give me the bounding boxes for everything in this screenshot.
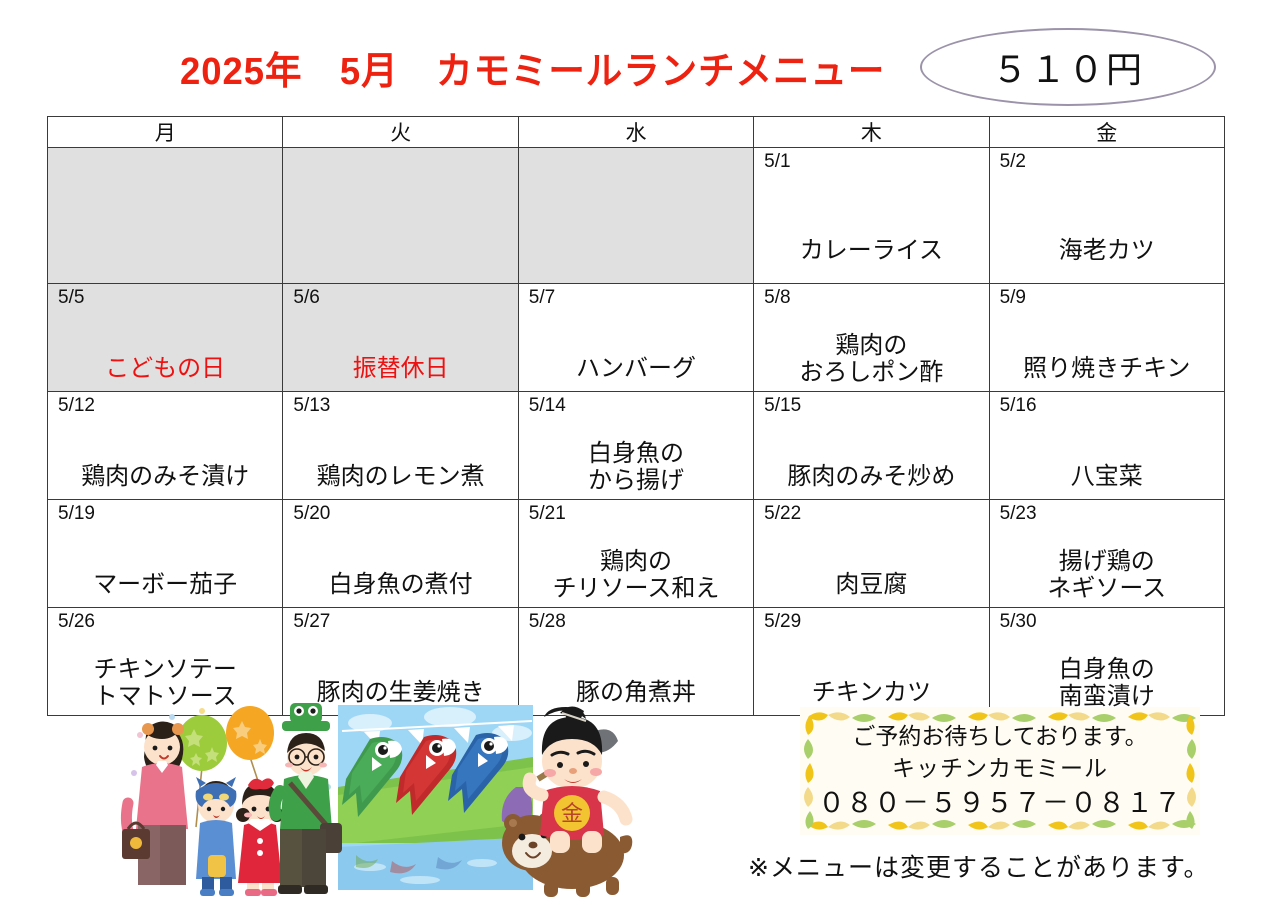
balloon-orange <box>226 706 274 760</box>
cell-menu-item: 白身魚の煮付 <box>283 571 517 599</box>
menu-cell: 5/12鶏肉のみそ漬け <box>48 392 283 500</box>
table-row: 5/12鶏肉のみそ漬け5/13鶏肉のレモン煮5/14白身魚の から揚げ5/15豚… <box>48 392 1225 500</box>
cell-date: 5/13 <box>293 396 330 417</box>
illustration-svg: 金 <box>120 695 650 900</box>
cell-date: 5/30 <box>1000 612 1037 633</box>
menu-cell: 5/1カレーライス <box>754 148 989 284</box>
cell-menu-item: マーボー茄子 <box>48 571 282 599</box>
cell-holiday-label: 振替休日 <box>283 355 517 383</box>
family-with-balloons-illustration <box>122 703 342 896</box>
koinobori-scene-illustration <box>338 705 533 890</box>
cell-date: 5/9 <box>1000 288 1026 309</box>
cell-date: 5/14 <box>529 396 566 417</box>
cell-date: 5/19 <box>58 504 95 525</box>
cell-menu-item: 肉豆腐 <box>754 571 988 599</box>
cell-date: 5/27 <box>293 612 330 633</box>
cell-date: 5/7 <box>529 288 555 309</box>
menu-cell: 5/9照り焼きチキン <box>989 284 1224 392</box>
column-header-mon: 月 <box>48 117 283 148</box>
cell-date: 5/28 <box>529 612 566 633</box>
cell-menu-item: 鶏肉のレモン煮 <box>283 463 517 491</box>
phone-number: ０８０－５９５７－０８１７ <box>818 785 1182 821</box>
menu-cell: 5/21鶏肉の チリソース和え <box>518 500 753 608</box>
menu-cell: 5/5こどもの日 <box>48 284 283 392</box>
menu-cell: 5/2海老カツ <box>989 148 1224 284</box>
cell-date: 5/16 <box>1000 396 1037 417</box>
cell-menu-item: ハンバーグ <box>519 355 753 383</box>
menu-poster: 2025年 5月 カモミールランチメニュー ５１０円 月 火 水 木 金 5/1… <box>0 0 1280 905</box>
boy-bag <box>208 855 226 877</box>
kintaro-bib-char: 金 <box>561 801 583 826</box>
menu-cell: 5/14白身魚の から揚げ <box>518 392 753 500</box>
family-boy <box>196 777 237 896</box>
menu-calendar-table: 月 火 水 木 金 5/1カレーライス5/2海老カツ5/5こどもの日5/6振替休… <box>47 116 1225 716</box>
column-header-tue: 火 <box>283 117 518 148</box>
floral-border-left <box>800 707 820 835</box>
menu-cell: 5/13鶏肉のレモン煮 <box>283 392 518 500</box>
cell-date: 5/20 <box>293 504 330 525</box>
menu-cell: 5/6振替休日 <box>283 284 518 392</box>
menu-cell: 5/29チキンカツ <box>754 608 989 716</box>
reservation-message: ご予約お待ちしております。 <box>818 721 1182 753</box>
menu-cell: 5/16八宝菜 <box>989 392 1224 500</box>
menu-cell <box>518 148 753 284</box>
menu-cell: 5/15豚肉のみそ炒め <box>754 392 989 500</box>
table-row: 5/5こどもの日5/6振替休日5/7ハンバーグ5/8鶏肉の おろしポン酢5/9照… <box>48 284 1225 392</box>
menu-cell: 5/19マーボー茄子 <box>48 500 283 608</box>
cell-date: 5/29 <box>764 612 801 633</box>
cell-menu-item: 鶏肉の おろしポン酢 <box>754 332 988 387</box>
cell-date: 5/22 <box>764 504 801 525</box>
page-title: 2025年 5月 カモミールランチメニュー <box>180 40 833 95</box>
cell-date: 5/2 <box>1000 152 1026 173</box>
cell-menu-item: 照り焼きチキン <box>990 355 1224 383</box>
table-body: 5/1カレーライス5/2海老カツ5/5こどもの日5/6振替休日5/7ハンバーグ5… <box>48 148 1225 716</box>
cell-menu-item: カレーライス <box>754 237 988 265</box>
cell-menu-item: 白身魚の から揚げ <box>519 440 753 495</box>
table-row: 5/19マーボー茄子5/20白身魚の煮付5/21鶏肉の チリソース和え5/22肉… <box>48 500 1225 608</box>
menu-cell <box>283 148 518 284</box>
cell-menu-item: 白身魚の 南蛮漬け <box>990 656 1224 711</box>
menu-change-note: ※メニューは変更することがあります。 <box>748 848 1218 884</box>
kintaro: 金 <box>529 706 626 853</box>
price-badge: ５１０円 <box>920 28 1216 106</box>
cell-holiday-label: こどもの日 <box>48 355 282 383</box>
cell-menu-item: 海老カツ <box>990 237 1224 265</box>
menu-cell: 5/7ハンバーグ <box>518 284 753 392</box>
column-header-thu: 木 <box>754 117 989 148</box>
price-value: ５１０円 <box>992 41 1144 93</box>
cell-menu-item: チキンカツ <box>754 679 988 707</box>
reservation-text-block: ご予約お待ちしております。 キッチンカモミール ０８０－５９５７－０８１７ <box>818 721 1182 821</box>
cell-date: 5/6 <box>293 288 319 309</box>
family-mother <box>122 721 188 885</box>
cell-date: 5/21 <box>529 504 566 525</box>
floral-border-right <box>1180 707 1200 835</box>
column-header-fri: 金 <box>989 117 1224 148</box>
menu-cell: 5/30白身魚の 南蛮漬け <box>989 608 1224 716</box>
cell-date: 5/26 <box>58 612 95 633</box>
cell-date: 5/8 <box>764 288 790 309</box>
cell-menu-item: 鶏肉のみそ漬け <box>48 463 282 491</box>
menu-cell: 5/8鶏肉の おろしポン酢 <box>754 284 989 392</box>
menu-cell: 5/23揚げ鶏の ネギソース <box>989 500 1224 608</box>
cell-menu-item: 八宝菜 <box>990 463 1224 491</box>
menu-cell: 5/20白身魚の煮付 <box>283 500 518 608</box>
menu-cell: 5/22肉豆腐 <box>754 500 989 608</box>
cell-menu-item: 鶏肉の チリソース和え <box>519 548 753 603</box>
table-row: 5/1カレーライス5/2海老カツ <box>48 148 1225 284</box>
cell-date: 5/5 <box>58 288 84 309</box>
reservation-info-box: ご予約お待ちしております。 キッチンカモミール ０８０－５９５７－０８１７ <box>800 707 1200 835</box>
menu-cell <box>48 148 283 284</box>
shop-name: キッチンカモミール <box>818 753 1182 785</box>
cell-date: 5/12 <box>58 396 95 417</box>
family-father <box>275 703 342 894</box>
cell-date: 5/1 <box>764 152 790 173</box>
cell-menu-item: 揚げ鶏の ネギソース <box>990 548 1224 603</box>
table-header-row: 月 火 水 木 金 <box>48 117 1225 148</box>
balloon-green <box>177 715 227 771</box>
seasonal-illustration-group: 金 <box>120 695 650 900</box>
cell-date: 5/15 <box>764 396 801 417</box>
cell-menu-item: 豚肉のみそ炒め <box>754 463 988 491</box>
cell-date: 5/23 <box>1000 504 1037 525</box>
column-header-wed: 水 <box>518 117 753 148</box>
